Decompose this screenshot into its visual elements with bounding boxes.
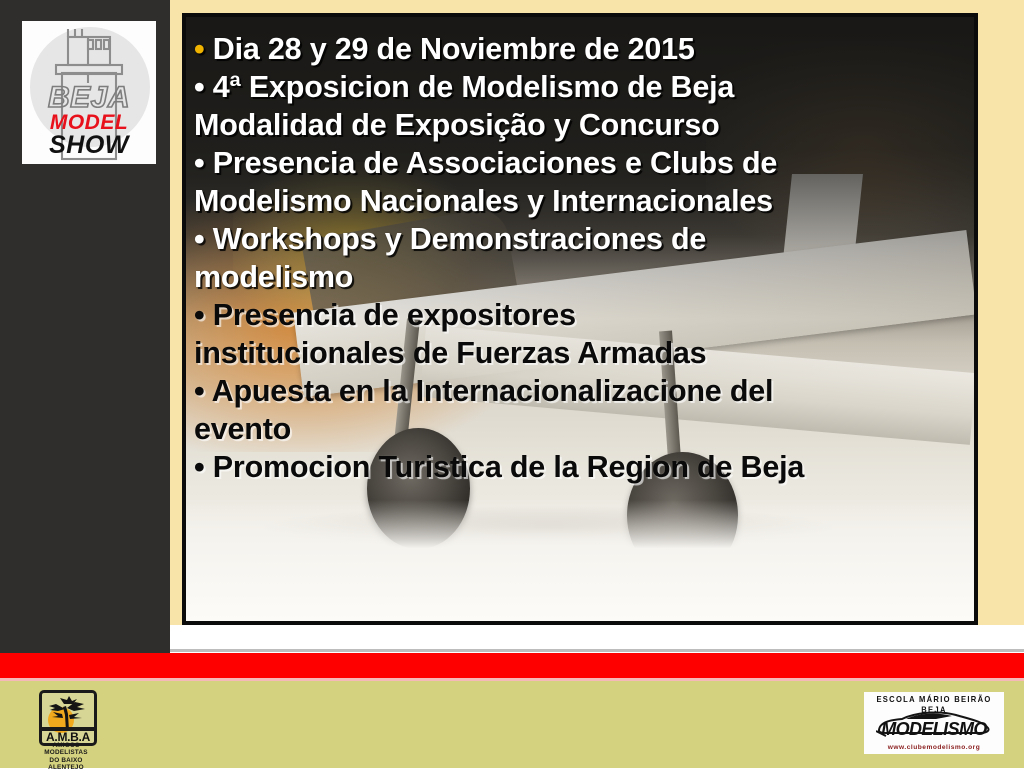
amba-sub-line-2: MODELISTAS	[33, 750, 99, 756]
modelismo-word: MODELISMO	[864, 720, 1004, 738]
logo-text-beja: BEJA	[22, 83, 156, 113]
bullet-line-4: Modelismo Nacionales y Internacionales	[194, 183, 966, 221]
slide-footer: A.M.B.A AMIGOS MODELISTAS DO BAIXO ALENT…	[0, 681, 1024, 768]
modelismo-url: www.clubemodelismo.org	[864, 744, 1004, 751]
bullet-line-9: • Apuesta en la Internacionalizacione de…	[194, 373, 966, 411]
bullet-line-6: modelismo	[194, 259, 966, 297]
bullet-line-1: • 4ª Exposicion de Modelismo de Beja	[194, 69, 966, 107]
bullet-line-0: • Dia 28 y 29 de Noviembre de 2015	[194, 31, 966, 69]
photo-frame: • Dia 28 y 29 de Noviembre de 2015 • 4ª …	[182, 13, 978, 625]
beja-model-show-logo: BEJA MODEL SHOW	[22, 21, 156, 164]
bullet-text-0: Dia 28 y 29 de Noviembre de 2015	[204, 32, 694, 66]
amba-subtitle: AMIGOS MODELISTAS DO BAIXO ALENTEJO	[33, 742, 99, 772]
modelismo-logo: ESCOLA MÁRIO BEIRÃO BEJA MODELISMO www.c…	[864, 692, 1004, 754]
bullet-line-7: • Presencia de expositores	[194, 297, 966, 335]
bullet-line-8: institucionales de Fuerzas Armadas	[194, 335, 966, 373]
bullet-line-10: evento	[194, 411, 966, 449]
amba-emblem-box: A.M.B.A	[39, 690, 97, 746]
content-panel: • Dia 28 y 29 de Noviembre de 2015 • 4ª …	[170, 0, 1024, 653]
gray-divider-rule	[170, 649, 1024, 652]
amba-logo: A.M.B.A AMIGOS MODELISTAS DO BAIXO ALENT…	[33, 690, 99, 766]
bullet-line-11: • Promocion Turistica de la Region de Be…	[194, 449, 966, 487]
amba-sub-line-4: ALENTEJO	[33, 765, 99, 771]
red-accent-stripe	[0, 653, 1024, 678]
bullet-line-3: • Presencia de Associaciones e Clubs de	[194, 145, 966, 183]
presentation-slide: BEJA MODEL SHOW	[0, 0, 1024, 768]
bullet-line-2: Modalidad de Exposição y Concurso	[194, 107, 966, 145]
bullet-line-5: • Workshops y Demonstraciones de	[194, 221, 966, 259]
logo-text-model: MODEL	[22, 112, 156, 133]
logo-text-show: SHOW	[22, 133, 156, 158]
bullet-list: • Dia 28 y 29 de Noviembre de 2015 • 4ª …	[186, 17, 974, 621]
